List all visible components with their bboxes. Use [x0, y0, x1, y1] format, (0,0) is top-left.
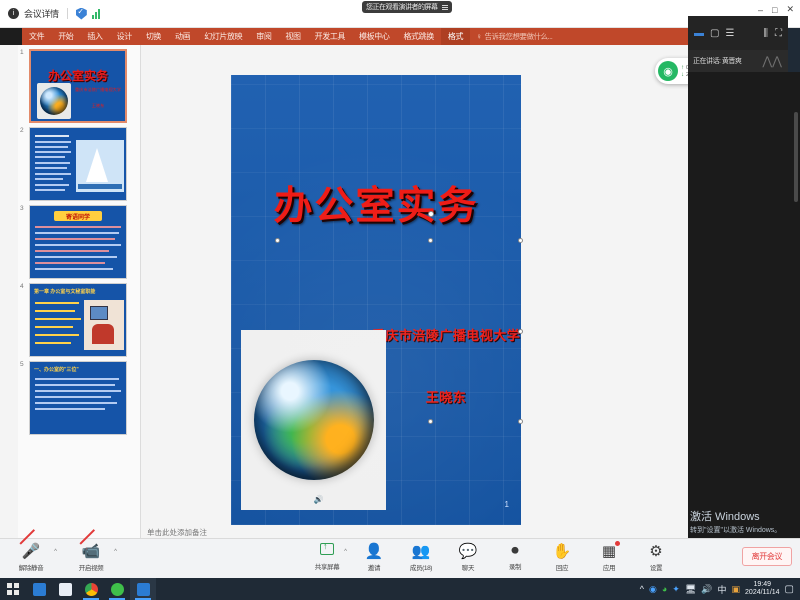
layout-sidebar-icon[interactable]: ⫼ — [763, 28, 768, 39]
powerpoint-window: 文件 开始 插入 设计 切换 动画 幻灯片放映 审阅 视图 开发工具 模板中心 … — [0, 28, 690, 538]
bluetooth-icon[interactable]: ✦ — [672, 584, 680, 595]
tab-design[interactable]: 设计 — [110, 28, 139, 45]
meeting-center-controls: ^ 共享屏幕 👤 邀请 👥 成员(18) 💬 聊天 ⏺ 录制 ✋ 回应 — [310, 542, 673, 572]
ribbon-tab-bar: 文件 开始 插入 设计 切换 动画 幻灯片放映 审阅 视图 开发工具 模板中心 … — [0, 28, 690, 45]
thumbnail-item-3[interactable]: 3 寄语同学 — [18, 201, 140, 279]
thumbnail-number: 2 — [20, 127, 24, 134]
meeting-top-bar: i 会议详情 您正在观看演讲者的屏幕 – □ ✕ — [0, 0, 800, 28]
meeting-top-left-group: i 会议详情 — [8, 7, 100, 20]
meeting-title-label: 会议详情 — [24, 7, 59, 20]
rotate-handle[interactable] — [428, 211, 434, 217]
thumbnail-preview[interactable]: 第一章 办公室与文秘室职能 — [29, 283, 127, 357]
meeting-brand-icon: ⋀⋀ — [762, 54, 782, 68]
wechat-tray-icon[interactable]: ◕ — [662, 584, 667, 594]
gear-icon: ⚙ — [649, 542, 662, 560]
record-icon: ⏺ — [511, 542, 519, 559]
control-label: 回应 — [545, 562, 579, 572]
viewing-presenter-banner[interactable]: 您正在观看演讲者的屏幕 — [362, 1, 452, 13]
system-tray: ^ ◉ ◕ ✦ 🖥 🔊 中 ▣ 19:49 2024/11/14 ▢ — [640, 581, 800, 598]
meeting-info-icon[interactable]: i — [8, 8, 19, 19]
thumbnail-item-1[interactable]: 1 办公室实务 重庆市涪陵广播电视大学 王晓东 — [18, 45, 140, 123]
participants-icon: 👥 — [412, 542, 431, 560]
windows-taskbar: ^ ◉ ◕ ✦ 🖥 🔊 中 ▣ 19:49 2024/11/14 ▢ — [0, 578, 800, 600]
apps-badge — [615, 541, 620, 546]
participant-video-column[interactable] — [688, 72, 800, 538]
location-icon[interactable]: ◉ — [649, 584, 657, 595]
control-label: 聊天 — [451, 562, 485, 572]
notes-pane[interactable]: 单击此处添加备注 — [142, 529, 690, 538]
viewing-presenter-label: 您正在观看演讲者的屏幕 — [366, 2, 438, 12]
control-label: 成员(18) — [404, 562, 438, 572]
thumbnail-preview[interactable]: 寄语同学 — [29, 205, 127, 279]
meeting-control-bar: 🎤 ^ 解除静音 📹 ^ 开启视频 ^ 共享屏幕 👤 邀请 👥 — [0, 538, 800, 578]
invite-person-icon: 👤 — [365, 542, 384, 560]
slide-organization[interactable]: 重庆市涪陵广播电视大学 — [371, 325, 521, 344]
selection-handle-bm[interactable] — [428, 419, 433, 424]
slide-media-object[interactable]: 🔊 — [241, 330, 386, 510]
thumbnail-image — [37, 83, 71, 119]
chevron-up-icon[interactable]: ^ — [344, 549, 347, 555]
control-start-video[interactable]: 📹 ^ 开启视频 — [68, 542, 114, 572]
control-share-screen[interactable]: ^ 共享屏幕 — [310, 542, 344, 572]
slide-title[interactable]: 办公室实务 — [231, 175, 521, 231]
current-slide[interactable]: 办公室实务 重庆市涪陵广播电视大学 王晓东 🔊 1 — [231, 75, 521, 525]
control-settings[interactable]: ⚙ 设置 — [639, 542, 673, 572]
thumbnail-line1: 重庆市涪陵广播电视大学 — [69, 87, 127, 93]
tab-file[interactable]: 文件 — [22, 28, 51, 45]
thumbnail-title: 办公室实务 — [31, 67, 125, 84]
meeting-left-controls: 🎤 ^ 解除静音 📹 ^ 开启视频 — [8, 542, 114, 572]
tab-template-center[interactable]: 模板中心 — [352, 28, 396, 45]
tab-developer[interactable]: 开发工具 — [308, 28, 352, 45]
excel-tray-icon[interactable]: ▣ — [732, 584, 741, 595]
clock-time: 19:49 — [754, 581, 772, 588]
control-apps[interactable]: ▦ 应用 — [592, 542, 626, 572]
layout-list-icon[interactable]: ☰ — [725, 28, 734, 39]
thumbnail-number: 4 — [20, 283, 24, 290]
notification-icon[interactable]: ▢ — [785, 584, 794, 595]
taskbar-meeting-app-icon[interactable] — [130, 578, 156, 600]
tab-animations[interactable]: 动画 — [168, 28, 197, 45]
thumbnail-title: 寄语同学 — [56, 212, 100, 221]
tab-transitions[interactable]: 切换 — [139, 28, 168, 45]
slide-author[interactable]: 王晓东 — [371, 387, 521, 406]
signal-bars-icon[interactable] — [92, 8, 100, 19]
slide-page-number: 1 — [505, 500, 509, 509]
meeting-layout-toolbar: ▬ ▢ ☰ ⫼ ⛶ — [688, 16, 788, 50]
wifi-icon: ◉ — [658, 61, 678, 81]
volume-icon[interactable]: 🔊 — [701, 584, 712, 595]
control-label: 设置 — [639, 562, 673, 572]
taskbar-file-explorer-icon[interactable] — [26, 578, 52, 600]
taskbar-document-app-icon[interactable] — [52, 578, 78, 600]
minimize-button[interactable]: – — [758, 5, 763, 15]
windows-start-icon[interactable] — [0, 578, 26, 600]
control-participants[interactable]: 👥 成员(18) — [404, 542, 438, 572]
thumbnail-item-4[interactable]: 4 第一章 办公室与文秘室职能 — [18, 279, 140, 357]
taskbar-chrome-icon[interactable] — [78, 578, 104, 600]
camera-off-icon: 📹 — [82, 542, 101, 560]
taskbar-clock[interactable]: 19:49 2024/11/14 — [745, 581, 780, 598]
control-chat[interactable]: 💬 聊天 — [451, 542, 485, 572]
selection-handle-br[interactable] — [518, 419, 523, 424]
leave-meeting-button[interactable]: 离开会议 — [742, 547, 792, 566]
selection-handle-tm[interactable] — [428, 238, 433, 243]
control-reaction[interactable]: ✋ 回应 — [545, 542, 579, 572]
selection-handle-tr[interactable] — [518, 238, 523, 243]
control-unmute[interactable]: 🎤 ^ 解除静音 — [8, 542, 54, 572]
control-label: 解除静音 — [8, 562, 54, 572]
thumbnail-item-5[interactable]: 5 一、办公室的"三位" — [18, 357, 140, 435]
reaction-hand-icon: ✋ — [553, 542, 572, 560]
lightbulb-icon: ♀ — [476, 32, 482, 41]
microphone-muted-icon: 🎤 — [22, 542, 41, 560]
notes-placeholder: 单击此处添加备注 — [147, 527, 207, 538]
share-screen-icon — [320, 543, 334, 555]
tab-insert[interactable]: 插入 — [80, 28, 109, 45]
apps-grid-icon: ▦ — [602, 542, 616, 560]
speaker-icon[interactable]: 🔊 — [314, 495, 324, 504]
chevron-up-icon[interactable]: ^ — [114, 549, 117, 555]
thumbnail-number: 5 — [20, 361, 24, 368]
video-scrollbar[interactable] — [794, 112, 798, 202]
taskbar-wechat-icon[interactable] — [104, 578, 130, 600]
selection-handle-mr[interactable] — [518, 329, 523, 334]
ime-icon[interactable]: 中 — [718, 583, 727, 596]
control-label: 录制 — [498, 561, 532, 571]
clock-date: 2024/11/14 — [745, 589, 780, 596]
tab-home[interactable]: 开始 — [51, 28, 80, 45]
thumbnail-preview[interactable]: 一、办公室的"三位" — [29, 361, 127, 435]
thumbnail-title: 第一章 办公室与文秘室职能 — [34, 288, 124, 295]
chat-bubble-icon: 💬 — [459, 542, 478, 560]
tab-format-switch[interactable]: 格式跳换 — [396, 28, 440, 45]
tab-view[interactable]: 视图 — [278, 28, 307, 45]
thumbnail-item-2[interactable]: 2 — [18, 123, 140, 201]
control-record[interactable]: ⏺ 录制 — [498, 542, 532, 572]
slide-thumbnail-panel[interactable]: 1 办公室实务 重庆市涪陵广播电视大学 王晓东 2 — [18, 45, 141, 538]
thumbnail-line2: 王晓东 — [69, 103, 127, 109]
tab-slideshow[interactable]: 幻灯片放映 — [197, 28, 249, 45]
close-button[interactable]: ✕ — [786, 4, 794, 15]
speaking-label: 正在讲话: 黄晋爽 — [693, 56, 741, 66]
thumbnail-number: 3 — [20, 205, 24, 212]
control-invite[interactable]: 👤 邀请 — [357, 542, 391, 572]
upload-arrow-icon: ↑ — [681, 65, 684, 71]
chevron-up-icon[interactable]: ^ — [54, 549, 57, 555]
control-label: 邀请 — [357, 562, 391, 572]
fullscreen-icon[interactable]: ⛶ — [775, 28, 782, 39]
tray-expand-icon[interactable]: ^ — [640, 584, 644, 594]
screen-root: i 会议详情 您正在观看演讲者的屏幕 – □ ✕ 文件 开始 插入 设计 切换 … — [0, 0, 800, 600]
thumbnail-number: 1 — [20, 49, 24, 56]
maximize-button[interactable]: □ — [772, 5, 777, 15]
tell-me-label: 告诉我您想要做什么... — [485, 31, 553, 42]
globe-image — [254, 360, 374, 480]
window-controls: – □ ✕ — [758, 4, 794, 15]
slide-editing-stage[interactable]: 办公室实务 重庆市涪陵广播电视大学 王晓东 🔊 1 — [142, 45, 690, 538]
thumbnail-preview[interactable] — [29, 127, 127, 201]
control-label: 共享屏幕 — [310, 561, 344, 571]
display-icon[interactable]: 🖥 — [685, 584, 696, 595]
powerpoint-body: 1 办公室实务 重庆市涪陵广播电视大学 王晓东 2 — [0, 45, 690, 538]
app-logo — [0, 28, 22, 45]
control-label: 应用 — [592, 562, 626, 572]
security-shield-icon[interactable] — [76, 8, 87, 20]
control-label: 开启视频 — [68, 562, 114, 572]
tab-format[interactable]: 格式 — [441, 28, 470, 45]
selection-handle-tl[interactable] — [275, 238, 280, 243]
divider — [67, 8, 68, 19]
thumbnail-title: 一、办公室的"三位" — [34, 366, 124, 373]
speaking-status-bar: 正在讲话: 黄晋爽 ⋀⋀ — [688, 50, 788, 72]
layout-single-icon[interactable]: ▢ — [710, 28, 719, 39]
thumbnail-preview[interactable]: 办公室实务 重庆市涪陵广播电视大学 王晓东 — [29, 49, 127, 123]
tab-review[interactable]: 审阅 — [249, 28, 278, 45]
banner-menu-icon[interactable] — [442, 5, 448, 10]
download-arrow-icon: ↓ — [681, 72, 684, 78]
tell-me-box[interactable]: ♀ 告诉我您想要做什么... — [476, 31, 552, 42]
layout-minimize-icon[interactable]: ▬ — [694, 28, 704, 39]
